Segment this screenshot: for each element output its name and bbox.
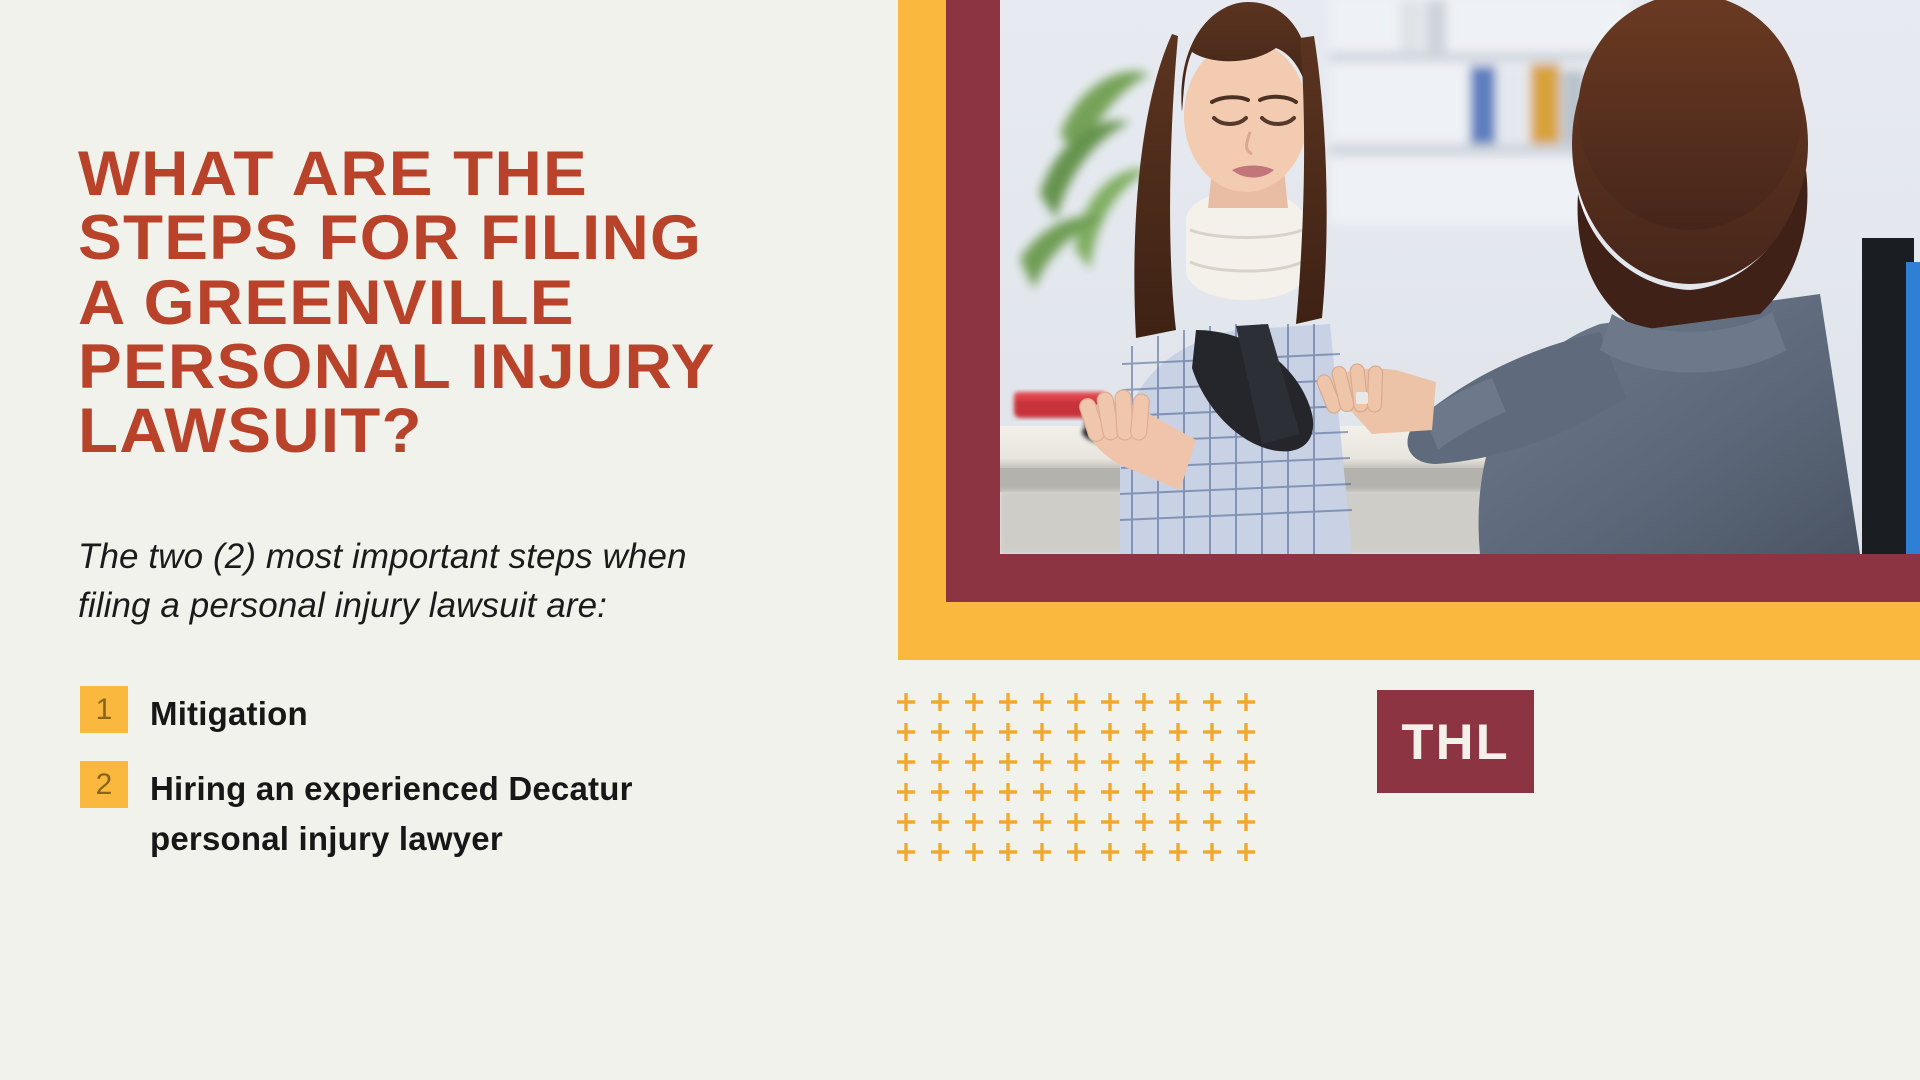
poster-canvas: What are the steps for filing a Greenvil… <box>0 0 1920 1080</box>
list-item: 2 Hiring an experienced Decatur personal… <box>80 761 940 864</box>
thl-logo: THL <box>1377 690 1534 793</box>
consultation-photo-illustration <box>1000 0 1920 554</box>
step-label: Mitigation <box>150 686 308 739</box>
list-item: 1 Mitigation <box>80 686 940 739</box>
step-number-badge: 1 <box>80 686 128 733</box>
intro-paragraph: The two (2) most important steps when fi… <box>78 532 968 630</box>
plus-pattern-icon <box>892 688 1264 868</box>
consultation-photo <box>1000 0 1920 554</box>
thl-logo-text: THL <box>1401 717 1509 767</box>
steps-list: 1 Mitigation 2 Hiring an experienced Dec… <box>80 686 940 886</box>
page-title: What are the steps for filing a Greenvil… <box>78 142 910 463</box>
step-number-badge: 2 <box>80 761 128 808</box>
step-label: Hiring an experienced Decatur personal i… <box>150 761 633 864</box>
content-column: What are the steps for filing a Greenvil… <box>78 0 898 1080</box>
plus-pattern-decoration <box>892 688 1264 868</box>
